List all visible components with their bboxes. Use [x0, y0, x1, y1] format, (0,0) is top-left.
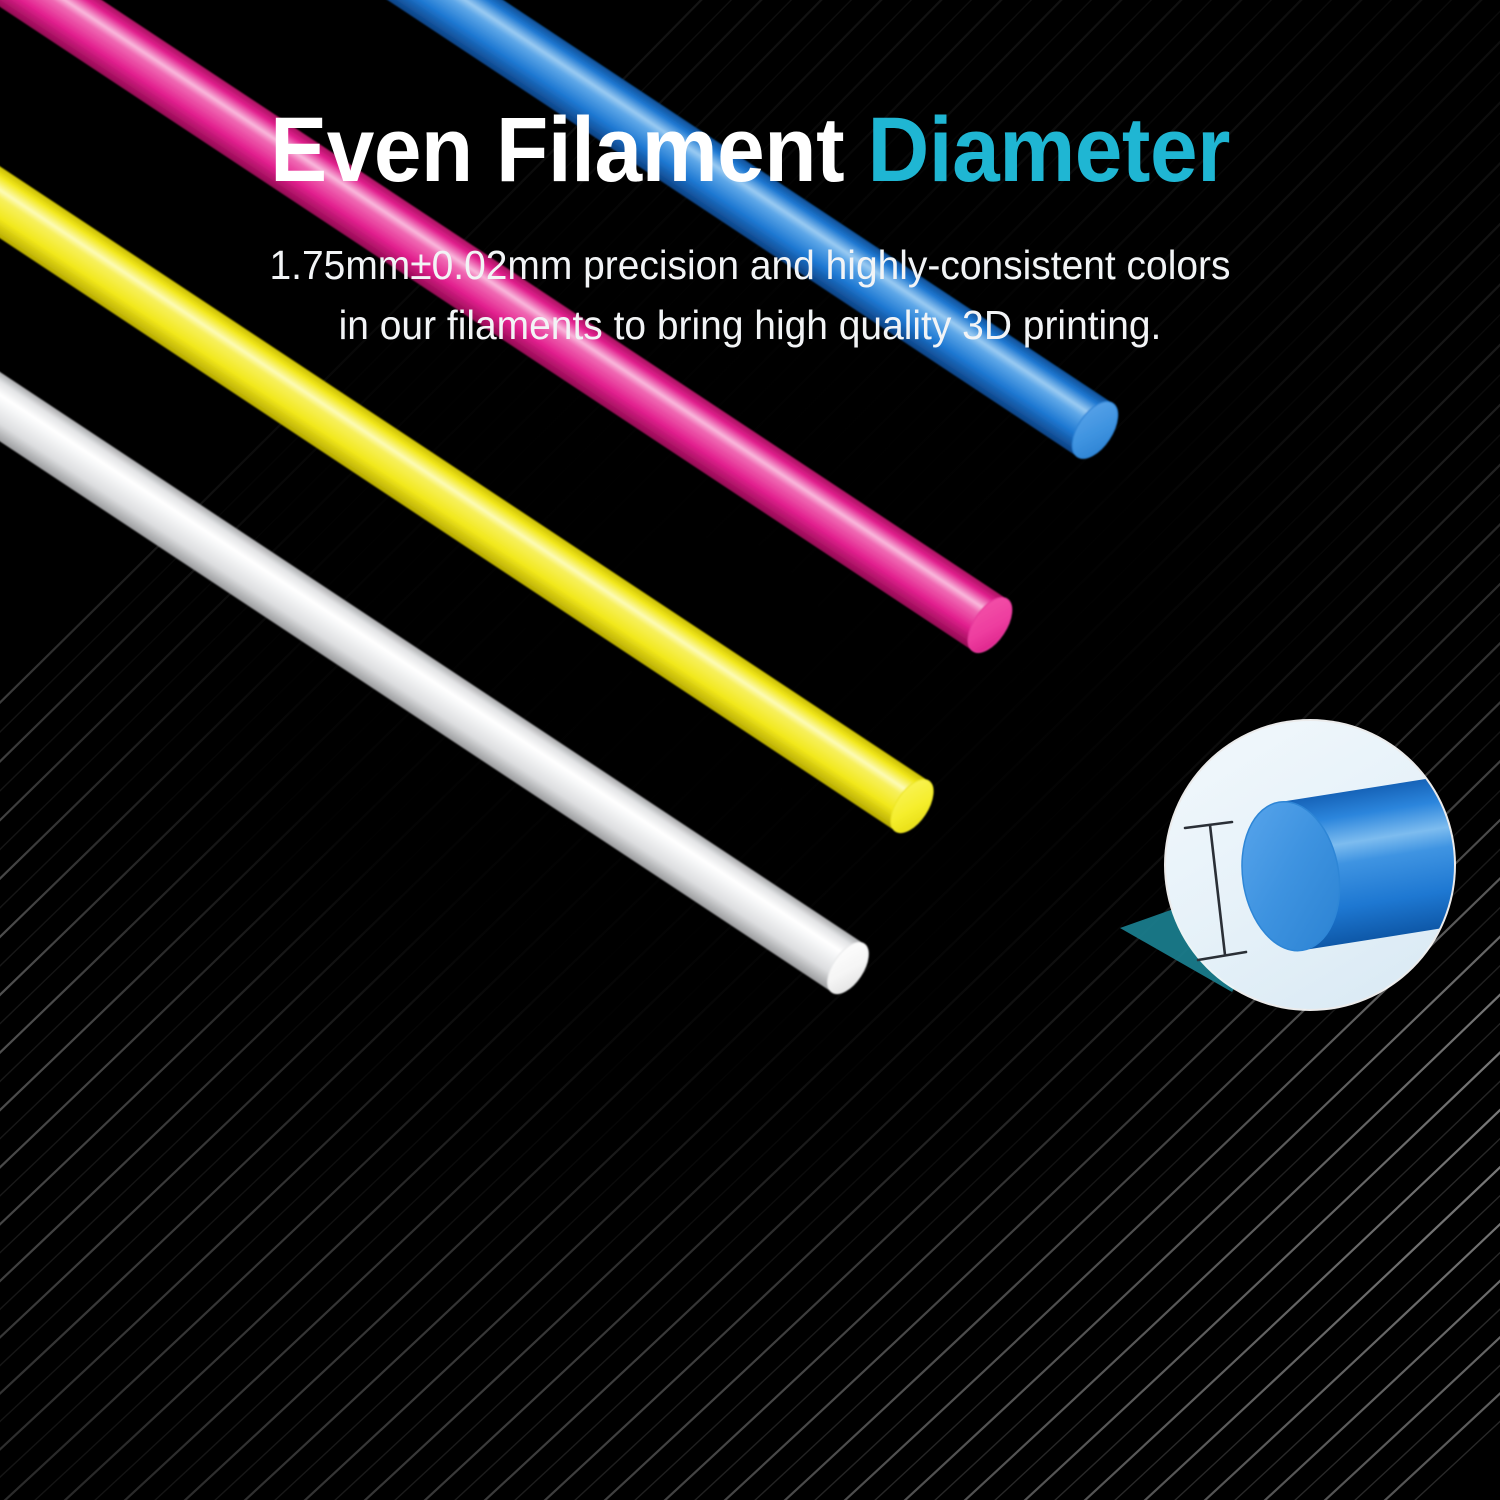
headline-part-2: Diameter — [867, 99, 1229, 201]
promo-banner: Even Filament Diameter 1.75mm±0.02mm pre… — [0, 0, 1500, 1500]
headline-part-1: Even Filament — [270, 99, 844, 201]
diameter-magnifier — [1100, 700, 1500, 1080]
subtitle-line-2: in our filaments to bring high quality 3… — [38, 294, 1463, 354]
subtitle-line-1: 1.75mm±0.02mm precision and highly-consi… — [38, 196, 1463, 294]
page-title: Even Filament Diameter — [53, 0, 1448, 196]
copy-block: Even Filament Diameter 1.75mm±0.02mm pre… — [0, 0, 1500, 354]
